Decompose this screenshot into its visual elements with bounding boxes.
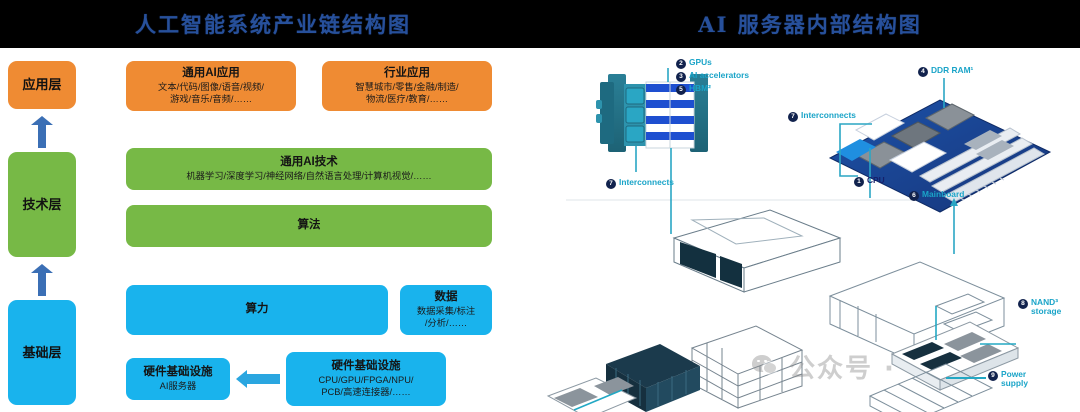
- arrow-shaft: [38, 123, 46, 148]
- callout-gpus: 2 GPUs: [676, 58, 712, 69]
- box-general-ai-technology[interactable]: 通用AI技术 机器学习/深度学习/神经网络/自然语言处理/计算机视觉/……: [126, 148, 492, 190]
- arrow-shaft: [245, 374, 280, 384]
- callout-ai-accelerators: 3 AI accelerators: [676, 71, 749, 82]
- callout-badge-6: 6: [909, 191, 919, 201]
- right-page-title: AI 服务器内部结构图: [540, 9, 1080, 39]
- callout-cpu: 1 CPU: [854, 176, 885, 187]
- callout-ai-accelerators-label: AI accelerators: [689, 71, 749, 80]
- arrow-components-to-ai-server: [236, 370, 280, 388]
- box-general-ai-application[interactable]: 通用AI应用 文本/代码/图像/语音/视频/ 游戏/音乐/音频/……: [126, 61, 296, 111]
- callout-power-supply: 9 Power supply: [988, 370, 1028, 389]
- ai-server-internal-diagram: 2 GPUs 3 AI accelerators 5 HBM² 4 DDR RA…: [540, 48, 1080, 412]
- callout-badge-8: 8: [1018, 299, 1028, 309]
- callout-mainboard-label: Mainboard: [922, 190, 964, 199]
- arrow-technology-to-application: [31, 116, 53, 148]
- callout-interconnects-bottom-label: Interconnects: [619, 178, 674, 187]
- callout-badge-9: 9: [988, 371, 998, 381]
- box-hardware-infrastructure-components-line2: PCB/高速连接器/……: [321, 387, 410, 398]
- box-general-ai-application-line1: 文本/代码/图像/语音/视频/: [158, 82, 264, 93]
- heatsink-board: [548, 377, 636, 412]
- server-rack-cage: [692, 326, 802, 408]
- callout-gpus-label: GPUs: [689, 58, 712, 67]
- box-general-ai-technology-title: 通用AI技术: [280, 156, 338, 170]
- server-illustration: [540, 48, 1080, 412]
- callout-badge-2: 2: [676, 59, 686, 69]
- box-general-ai-application-line2: 游戏/音乐/音频/……: [170, 94, 252, 105]
- box-hardware-infrastructure-components[interactable]: 硬件基础设施 CPU/GPU/FPGA/NPU/ PCB/高速连接器/……: [286, 352, 446, 406]
- box-computing-power-title: 算力: [246, 303, 269, 317]
- callout-badge-7: 7: [606, 179, 616, 189]
- right-title-banner: AI 服务器内部结构图: [540, 0, 1080, 48]
- box-general-ai-application-title: 通用AI应用: [182, 67, 240, 81]
- callout-ddr-ram-label: DDR RAM¹: [931, 66, 973, 75]
- box-hardware-infrastructure-ai-server-title: 硬件基础设施: [144, 366, 213, 380]
- box-industry-application[interactable]: 行业应用 智慧城市/零售/金融/制造/ 物流/医疗/教育/……: [322, 61, 492, 111]
- box-data[interactable]: 数据 数据采集/标注 /分析/……: [400, 285, 492, 335]
- left-page-title: 人工智能系统产业链结构图: [0, 9, 540, 39]
- box-industry-application-line2: 物流/医疗/教育/……: [366, 94, 448, 105]
- layer-chip-foundation[interactable]: 基础层: [8, 300, 76, 405]
- box-hardware-infrastructure-ai-server[interactable]: 硬件基础设施 AI服务器: [126, 358, 230, 400]
- callout-nand-storage: 8 NAND³ storage: [1018, 298, 1061, 317]
- callout-interconnects-bottom: 7 Interconnects: [606, 178, 674, 189]
- callout-cpu-label: CPU: [867, 176, 885, 185]
- box-general-ai-technology-line1: 机器学习/深度学习/神经网络/自然语言处理/计算机视觉/……: [186, 171, 431, 182]
- layer-chip-technology[interactable]: 技术层: [8, 152, 76, 257]
- box-hardware-infrastructure-ai-server-line1: AI服务器: [160, 381, 197, 392]
- box-industry-application-title: 行业应用: [384, 67, 430, 81]
- callout-nand-storage-label: NAND³ storage: [1031, 298, 1061, 317]
- layer-chip-foundation-label: 基础层: [22, 345, 61, 360]
- box-algorithm-title: 算法: [298, 219, 321, 233]
- ai-industry-chain-diagram: 应用层 技术层 基础层 通用AI应用 文本/代码/图像/语音/视频/ 游戏/音乐…: [0, 48, 540, 412]
- callout-interconnects-top: 7 Interconnects: [788, 111, 856, 122]
- callout-badge-1: 1: [854, 177, 864, 187]
- box-algorithm[interactable]: 算法: [126, 205, 492, 247]
- box-data-line1: 数据采集/标注: [417, 306, 475, 317]
- callout-badge-7: 7: [788, 112, 798, 122]
- box-hardware-infrastructure-components-line1: CPU/GPU/FPGA/NPU/: [318, 375, 413, 386]
- box-industry-application-line1: 智慧城市/零售/金融/制造/: [355, 82, 458, 93]
- callout-hbm: 5 HBM²: [676, 84, 711, 95]
- server-node-filled: [674, 210, 840, 292]
- callout-badge-3: 3: [676, 72, 686, 82]
- layer-chip-application-label: 应用层: [22, 77, 61, 92]
- callout-interconnects-top-label: Interconnects: [801, 111, 856, 120]
- arrow-shaft: [38, 271, 46, 296]
- callout-badge-5: 5: [676, 85, 686, 95]
- left-title-banner: 人工智能系统产业链结构图: [0, 0, 540, 48]
- callout-hbm-label: HBM²: [689, 84, 711, 93]
- mainboard-pcb: [830, 78, 1050, 254]
- callout-power-supply-label: Power supply: [1001, 370, 1028, 389]
- box-data-title: 数据: [435, 291, 458, 305]
- callout-mainboard: 6 Mainboard: [909, 190, 964, 201]
- layer-chip-application[interactable]: 应用层: [8, 61, 76, 109]
- callout-ddr-ram: 4 DDR RAM¹: [918, 66, 973, 77]
- arrow-foundation-to-technology: [31, 264, 53, 296]
- callout-badge-4: 4: [918, 67, 928, 77]
- box-computing-power[interactable]: 算力: [126, 285, 388, 335]
- layer-chip-technology-label: 技术层: [22, 197, 61, 212]
- box-hardware-infrastructure-components-title: 硬件基础设施: [332, 360, 401, 374]
- screenshot-root: 人工智能系统产业链结构图 AI 服务器内部结构图 应用层 技术层 基础层 通用A…: [0, 0, 1080, 412]
- box-data-line2: /分析/……: [425, 318, 467, 329]
